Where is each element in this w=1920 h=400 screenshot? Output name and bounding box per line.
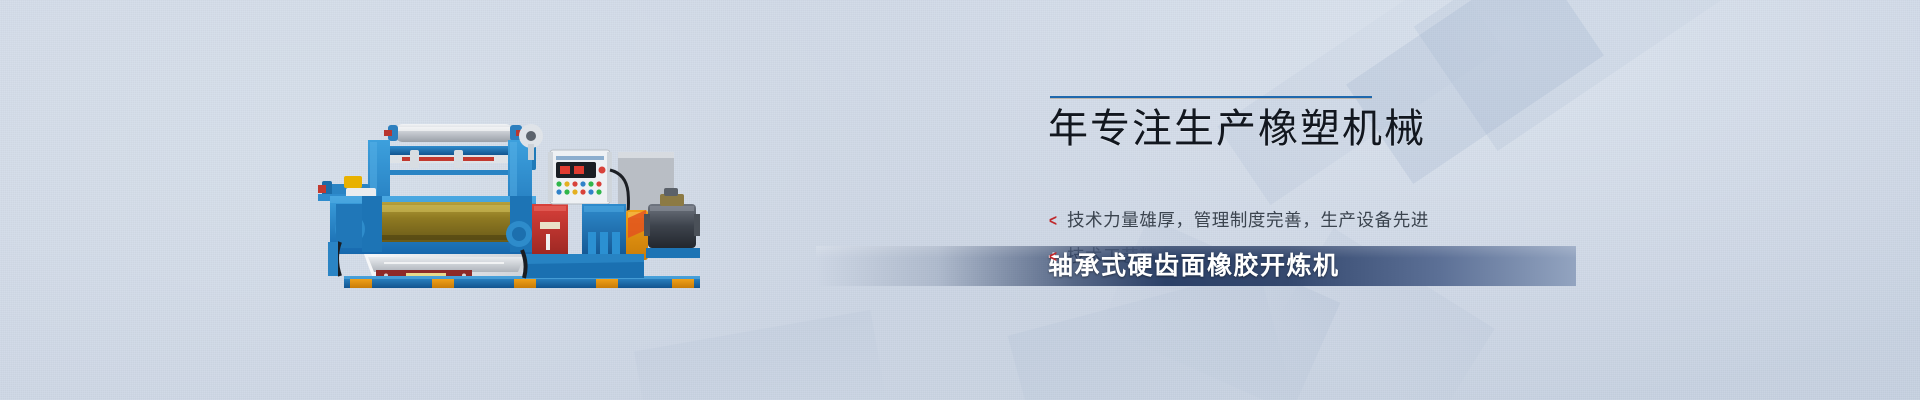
rule-line-secondary (1050, 98, 1372, 99)
chevron-left-icon: < (1049, 248, 1057, 265)
banner-title: 年专注生产橡塑机械 (1048, 105, 1568, 153)
hero-banner: 年专注生产橡塑机械 轴承式硬齿面橡胶开炼机 < 技术力量雄厚，管理制度完善，生产… (0, 0, 1920, 400)
title-top-rule (1050, 96, 1372, 99)
decorative-shape-7 (634, 310, 886, 400)
chevron-left-icon: < (1049, 212, 1057, 229)
subtitle-bar: 轴承式硬齿面橡胶开炼机 (816, 246, 1576, 286)
banner-subtitle: 轴承式硬齿面橡胶开炼机 (1048, 246, 1340, 286)
list-item: < 技术力量雄厚，管理制度完善，生产设备先进 (1048, 209, 1568, 231)
decorative-shape-5 (1008, 269, 1293, 400)
feature-text: 技术力量雄厚，管理制度完善，生产设备先进 (1067, 209, 1429, 231)
product-image-rubber-mixing-mill (284, 92, 704, 290)
banner-text-block: 年专注生产橡塑机械 轴承式硬齿面橡胶开炼机 < 技术力量雄厚，管理制度完善，生产… (1048, 96, 1568, 281)
